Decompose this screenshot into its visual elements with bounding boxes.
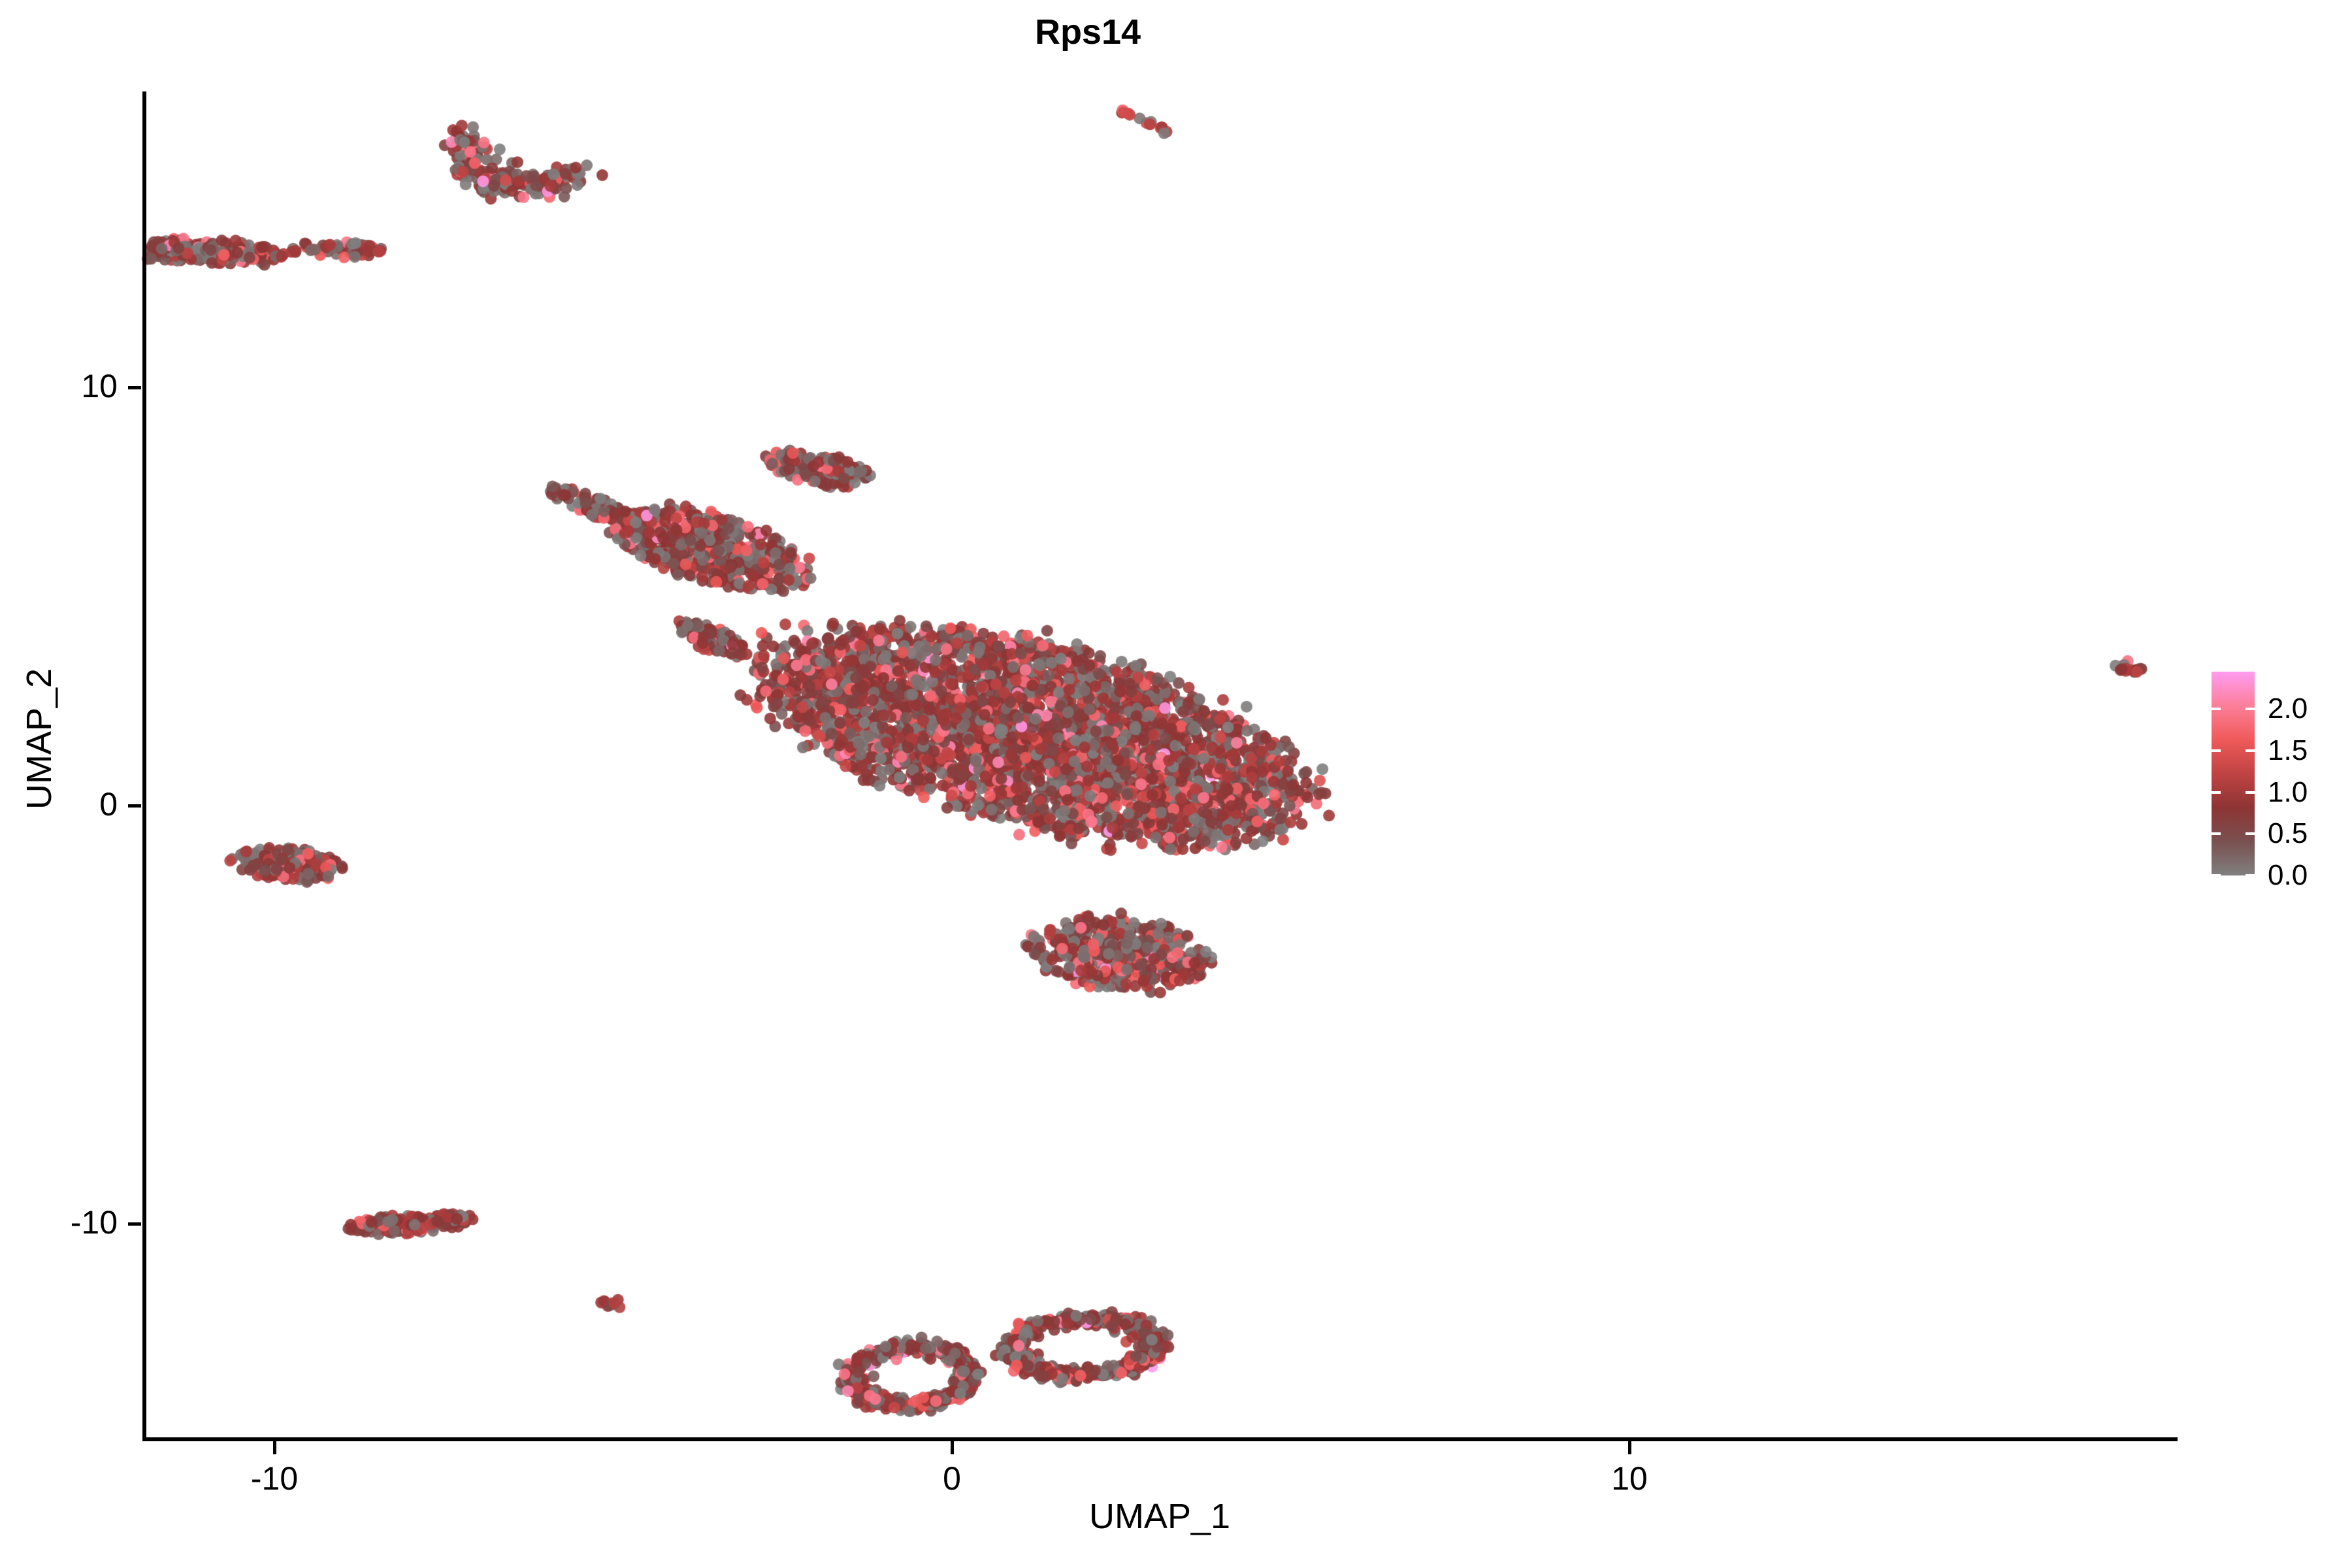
y-tick-label: 0: [0, 788, 118, 821]
x-tick-mark: [1628, 1441, 1631, 1454]
colorbar-tick-mark: [2212, 708, 2221, 710]
y-tick-label: 10: [0, 370, 118, 402]
colorbar-tick-label: 2.0: [2268, 694, 2308, 723]
colorbar-gradient: [2212, 672, 2255, 875]
colorbar-tick-mark: [2246, 791, 2255, 794]
x-axis-line: [142, 1437, 2178, 1441]
x-tick-label: -10: [196, 1462, 353, 1495]
x-tick-mark: [951, 1441, 954, 1454]
x-tick-label: 0: [874, 1462, 1030, 1495]
colorbar-tick-mark: [2212, 832, 2221, 835]
colorbar-tick-mark: [2246, 832, 2255, 835]
colorbar-tick-label: 1.0: [2268, 778, 2308, 807]
y-tick-mark: [128, 1222, 141, 1226]
colorbar-tick-mark: [2246, 874, 2255, 877]
colorbar-tick-label: 0.5: [2268, 819, 2308, 848]
colorbar-tick-label: 1.5: [2268, 736, 2308, 765]
colorbar-tick-mark: [2212, 874, 2221, 877]
colorbar-tick-mark: [2246, 749, 2255, 752]
colorbar-tick-mark: [2246, 708, 2255, 710]
x-axis-title: UMAP_1: [144, 1496, 2176, 1537]
y-tick-mark: [128, 804, 141, 808]
colorbar-tick-mark: [2212, 791, 2221, 794]
y-tick-label: -10: [0, 1206, 118, 1239]
colorbar-tick-mark: [2212, 749, 2221, 752]
x-tick-label: 10: [1551, 1462, 1708, 1495]
y-tick-mark: [128, 386, 141, 389]
x-tick-mark: [273, 1441, 276, 1454]
umap-feature-plot: Rps14 UMAP_2 UMAP_1 -10010 -10010 0.00.5…: [0, 0, 2352, 1568]
colorbar-tick-label: 0.0: [2268, 861, 2308, 890]
y-axis-line: [142, 91, 146, 1441]
scatter-plot-canvas: [0, 0, 2352, 1568]
y-axis-title: UMAP_2: [19, 589, 59, 889]
